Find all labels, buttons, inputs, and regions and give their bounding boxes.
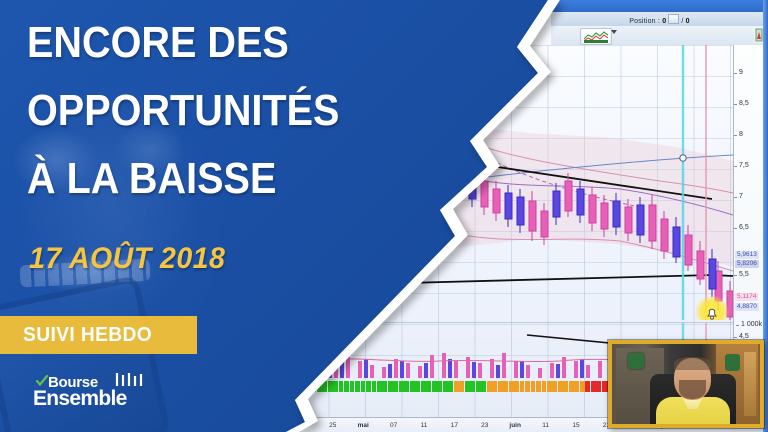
volume-axis-label: 1 000k — [736, 321, 762, 329]
candlestick-icon — [114, 373, 144, 388]
check-icon — [36, 375, 48, 387]
webcam-wall-plaque-right — [725, 354, 740, 371]
title-line-2: OPPORTUNITÉS — [27, 90, 339, 132]
presenter-webcam — [608, 340, 764, 428]
webcam-door-panel — [744, 352, 756, 416]
episode-date: 17 AOÛT 2018 — [29, 242, 225, 276]
suivi-hebdo-banner: SUIVI HEBDO — [0, 316, 197, 354]
webcam-wall-plaque-left — [628, 353, 644, 369]
youtube-thumbnail: Position : 0/ 0 — [0, 0, 768, 432]
presenter-hair — [674, 357, 711, 370]
logo-text-ensemble: Ensemble — [33, 387, 127, 411]
brand-logo: Bourse Ensemble — [30, 374, 150, 420]
presenter-beard — [679, 380, 706, 399]
logo-ensemble-label: Ensemble — [33, 387, 127, 410]
title-line-3: À LA BAISSE — [27, 158, 276, 200]
title-line-1: ENCORE DES — [27, 22, 289, 64]
banner-label: SUIVI HEBDO — [0, 324, 152, 347]
